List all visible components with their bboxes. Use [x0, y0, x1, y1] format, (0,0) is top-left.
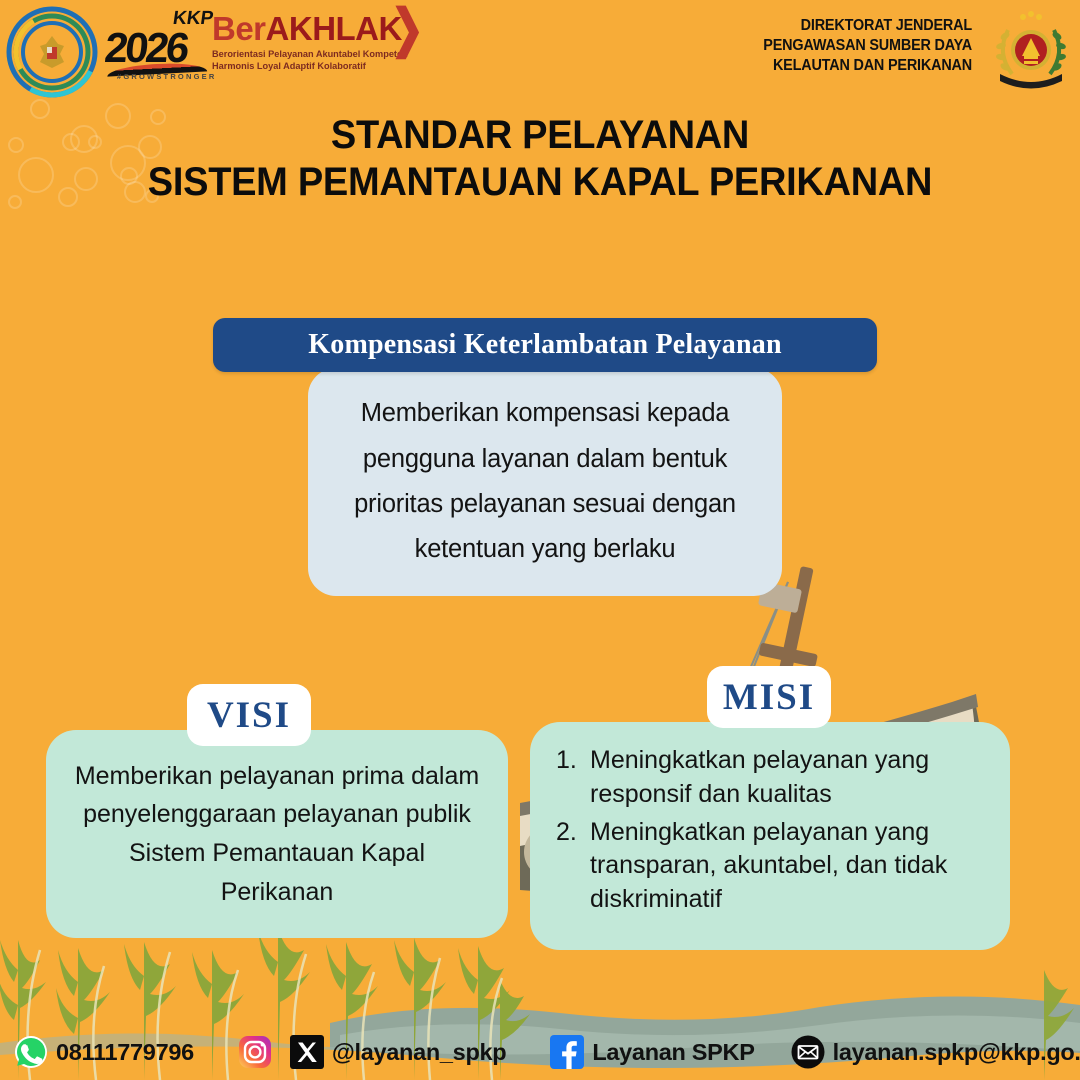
list-item: 1. Meningkatkan pelayanan yang responsif…	[556, 744, 990, 812]
kompensasi-banner: Kompensasi Keterlambatan Pelayanan	[213, 318, 877, 372]
berakhlak-prefix: Ber	[212, 10, 266, 47]
berakhlak-subtitle-line1: Berorientasi Pelayanan Akuntabel Kompete…	[212, 48, 412, 60]
facebook-icon[interactable]	[550, 1035, 584, 1069]
page-title-line2: SISTEM PEMANTAUAN KAPAL PERIKANAN	[27, 159, 1053, 206]
contact-facebook-label: Layanan SPKP	[592, 1039, 754, 1066]
email-icon[interactable]	[791, 1035, 825, 1069]
contact-x-twitter[interactable]: @layanan_spkp	[290, 1035, 506, 1069]
visi-card: Memberikan pelayanan prima dalam penyele…	[46, 730, 508, 938]
djpsdkp-emblem-icon	[988, 8, 1074, 94]
whatsapp-icon[interactable]	[14, 1035, 48, 1069]
footer-contact-bar: 08111779796	[0, 1024, 1080, 1080]
list-item: 2. Meningkatkan pelayanan yang transpara…	[556, 816, 990, 917]
visi-label-pill: VISI	[187, 684, 311, 746]
poster-header: KKP 2026 #GROWSTRONGER ❯ BerAKHLAK Beror…	[0, 0, 1080, 100]
page-title: STANDAR PELAYANAN SISTEM PEMANTAUAN KAPA…	[0, 112, 1080, 206]
berakhlak-wordmark: BerAKHLAK	[212, 12, 412, 45]
misi-item-number: 1.	[556, 744, 590, 778]
directorate-line2: PENGAWASAN SUMBER DAYA	[740, 36, 973, 56]
kompensasi-body-text: Memberikan kompensasi kepada pengguna la…	[330, 391, 760, 573]
contact-whatsapp[interactable]: 08111779796	[14, 1035, 194, 1069]
berakhlak-logo: ❯ BerAKHLAK Berorientasi Pelayanan Akunt…	[212, 12, 412, 90]
contact-facebook[interactable]: Layanan SPKP	[550, 1035, 754, 1069]
directorate-title: DIREKTORAT JENDERAL PENGAWASAN SUMBER DA…	[740, 16, 973, 75]
infographic-poster: KKP 2026 #GROWSTRONGER ❯ BerAKHLAK Beror…	[0, 0, 1080, 1080]
logo-year-label: 2026	[102, 24, 188, 72]
page-title-line1: STANDAR PELAYANAN	[27, 112, 1053, 159]
x-twitter-icon[interactable]	[290, 1035, 324, 1069]
misi-list: 1. Meningkatkan pelayanan yang responsif…	[556, 744, 990, 917]
berakhlak-main: AKHLAK	[266, 10, 402, 47]
contact-email[interactable]: layanan.spkp@kkp.go.id	[791, 1035, 1080, 1069]
contact-instagram[interactable]	[238, 1035, 280, 1069]
visi-body-text: Memberikan pelayanan prima dalam penyele…	[72, 757, 482, 912]
misi-item-text: Meningkatkan pelayanan yang responsif da…	[590, 744, 990, 812]
contact-whatsapp-label: 08111779796	[56, 1039, 194, 1066]
directorate-line1: DIREKTORAT JENDERAL	[740, 16, 973, 36]
logo-2026-grow-stronger: KKP 2026 #GROWSTRONGER	[105, 8, 215, 88]
kkp-seal-ring-label	[6, 6, 98, 98]
kompensasi-banner-label: Kompensasi Keterlambatan Pelayanan	[308, 329, 781, 361]
kkp-ministry-seal-icon	[6, 6, 98, 98]
misi-card: 1. Meningkatkan pelayanan yang responsif…	[530, 722, 1010, 950]
visi-label: VISI	[207, 694, 291, 737]
misi-label: MISI	[723, 676, 815, 719]
berakhlak-arrow-icon: ❯	[390, 0, 424, 59]
contact-email-label: layanan.spkp@kkp.go.id	[833, 1039, 1080, 1066]
misi-item-number: 2.	[556, 816, 590, 850]
kompensasi-content-card: Memberikan kompensasi kepada pengguna la…	[308, 368, 782, 596]
instagram-icon[interactable]	[238, 1035, 272, 1069]
contact-x-twitter-label: @layanan_spkp	[332, 1039, 506, 1066]
logo-tagline: #GROWSTRONGER	[117, 72, 216, 81]
berakhlak-subtitle-line2: Harmonis Loyal Adaptif Kolaboratif	[212, 60, 412, 72]
directorate-line3: KELAUTAN DAN PERIKANAN	[740, 56, 973, 76]
misi-item-text: Meningkatkan pelayanan yang transparan, …	[590, 816, 990, 917]
misi-label-pill: MISI	[707, 666, 831, 728]
